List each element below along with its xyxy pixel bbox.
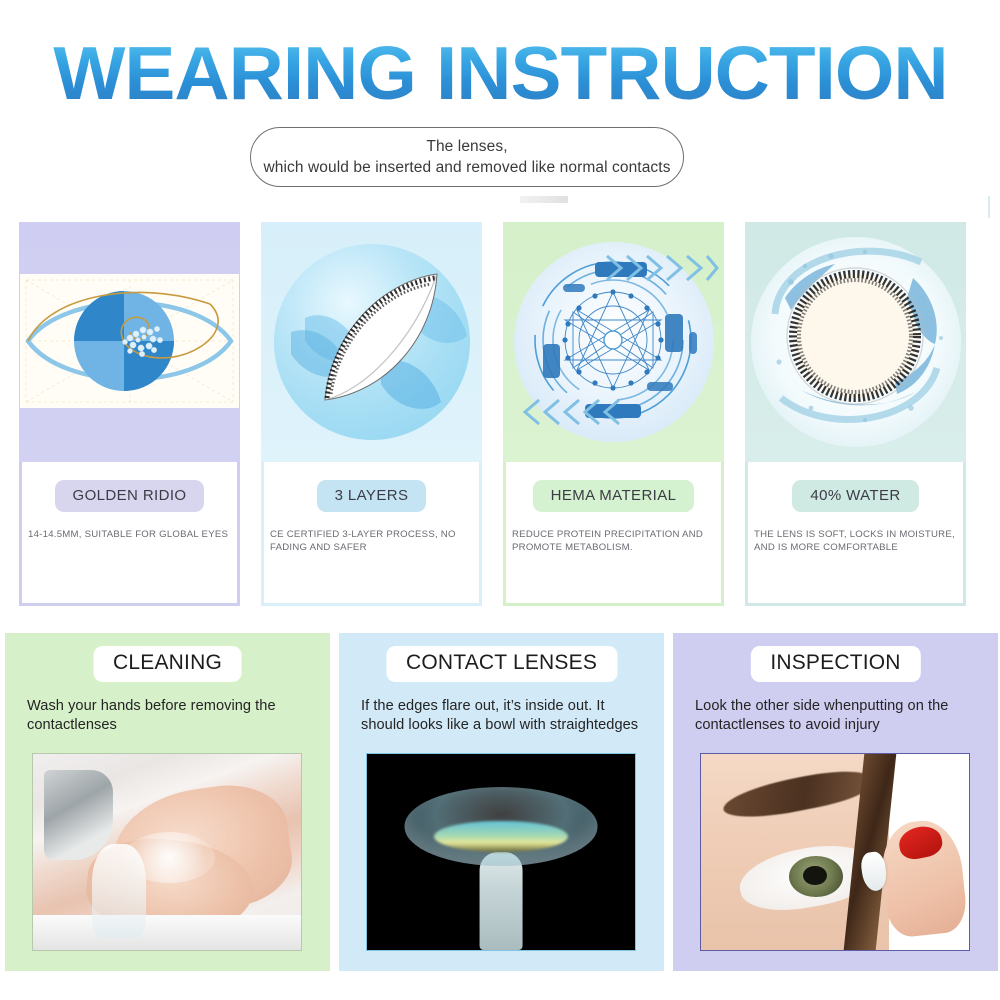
page-title: WEARING INSTRUCTION [53,34,947,112]
scan-artifact [520,196,568,203]
feature-card-golden-ratio[interactable]: GOLDEN RIDIO 14-14.5MM, SUITABLE FOR GLO… [19,222,240,606]
step-title: CLEANING [93,646,242,682]
golden-ratio-eye-icon [19,222,240,462]
page-header: WEARING INSTRUCTION [0,34,1000,112]
step-title: CONTACT LENSES [386,646,617,682]
feature-description: 14-14.5MM, SUITABLE FOR GLOBAL EYES [22,528,237,541]
three-layer-lens-icon [261,222,482,462]
edge-divider-line [988,196,990,218]
subtitle-line-1: The lenses, [426,136,507,157]
feature-badge: 3 LAYERS [317,480,427,512]
feature-description: CE CERTIFIED 3-LAYER PROCESS, NO FADING … [264,528,479,554]
hema-tech-circle-icon [503,222,724,462]
feature-badge: HEMA MATERIAL [533,480,695,512]
feature-card-body: 3 LAYERS CE CERTIFIED 3-LAYER PROCESS, N… [264,462,479,603]
feature-card-body: HEMA MATERIAL REDUCE PROTEIN PRECIPITATI… [506,462,721,603]
step-panel-cleaning[interactable]: CLEANING Wash your hands before removing… [5,633,330,971]
feature-card-hema-material[interactable]: HEMA MATERIAL REDUCE PROTEIN PRECIPITATI… [503,222,724,606]
inserting-lens-eye-photo [700,753,970,951]
subtitle-callout: The lenses, which would be inserted and … [250,127,684,187]
step-panel-contact-lenses[interactable]: CONTACT LENSES If the edges flare out, i… [339,633,664,971]
feature-description: REDUCE PROTEIN PRECIPITATION AND PROMOTE… [506,528,721,554]
feature-description: THE LENS IS SOFT, LOCKS IN MOISTURE, AND… [748,528,963,554]
feature-badge: GOLDEN RIDIO [55,480,205,512]
feature-card-body: GOLDEN RIDIO 14-14.5MM, SUITABLE FOR GLO… [22,462,237,603]
washing-hands-photo [32,753,302,951]
feature-card-three-layers[interactable]: 3 LAYERS CE CERTIFIED 3-LAYER PROCESS, N… [261,222,482,606]
step-description: Wash your hands before removing the cont… [27,697,317,735]
lens-on-applicator-photo [366,753,636,951]
subtitle-line-2: which would be inserted and removed like… [263,157,670,178]
feature-badge: 40% WATER [792,480,918,512]
feature-card-water-content[interactable]: 40% WATER THE LENS IS SOFT, LOCKS IN MOI… [745,222,966,606]
water-splash-lens-icon [745,222,966,462]
instruction-step-row: CLEANING Wash your hands before removing… [5,633,998,971]
step-title: INSPECTION [750,646,920,682]
feature-card-row: GOLDEN RIDIO 14-14.5MM, SUITABLE FOR GLO… [19,222,982,606]
step-description: Look the other side whenputting on the c… [695,697,985,735]
step-panel-inspection[interactable]: INSPECTION Look the other side whenputti… [673,633,998,971]
feature-card-body: 40% WATER THE LENS IS SOFT, LOCKS IN MOI… [748,462,963,603]
step-description: If the edges flare out, it’s inside out.… [361,697,651,735]
